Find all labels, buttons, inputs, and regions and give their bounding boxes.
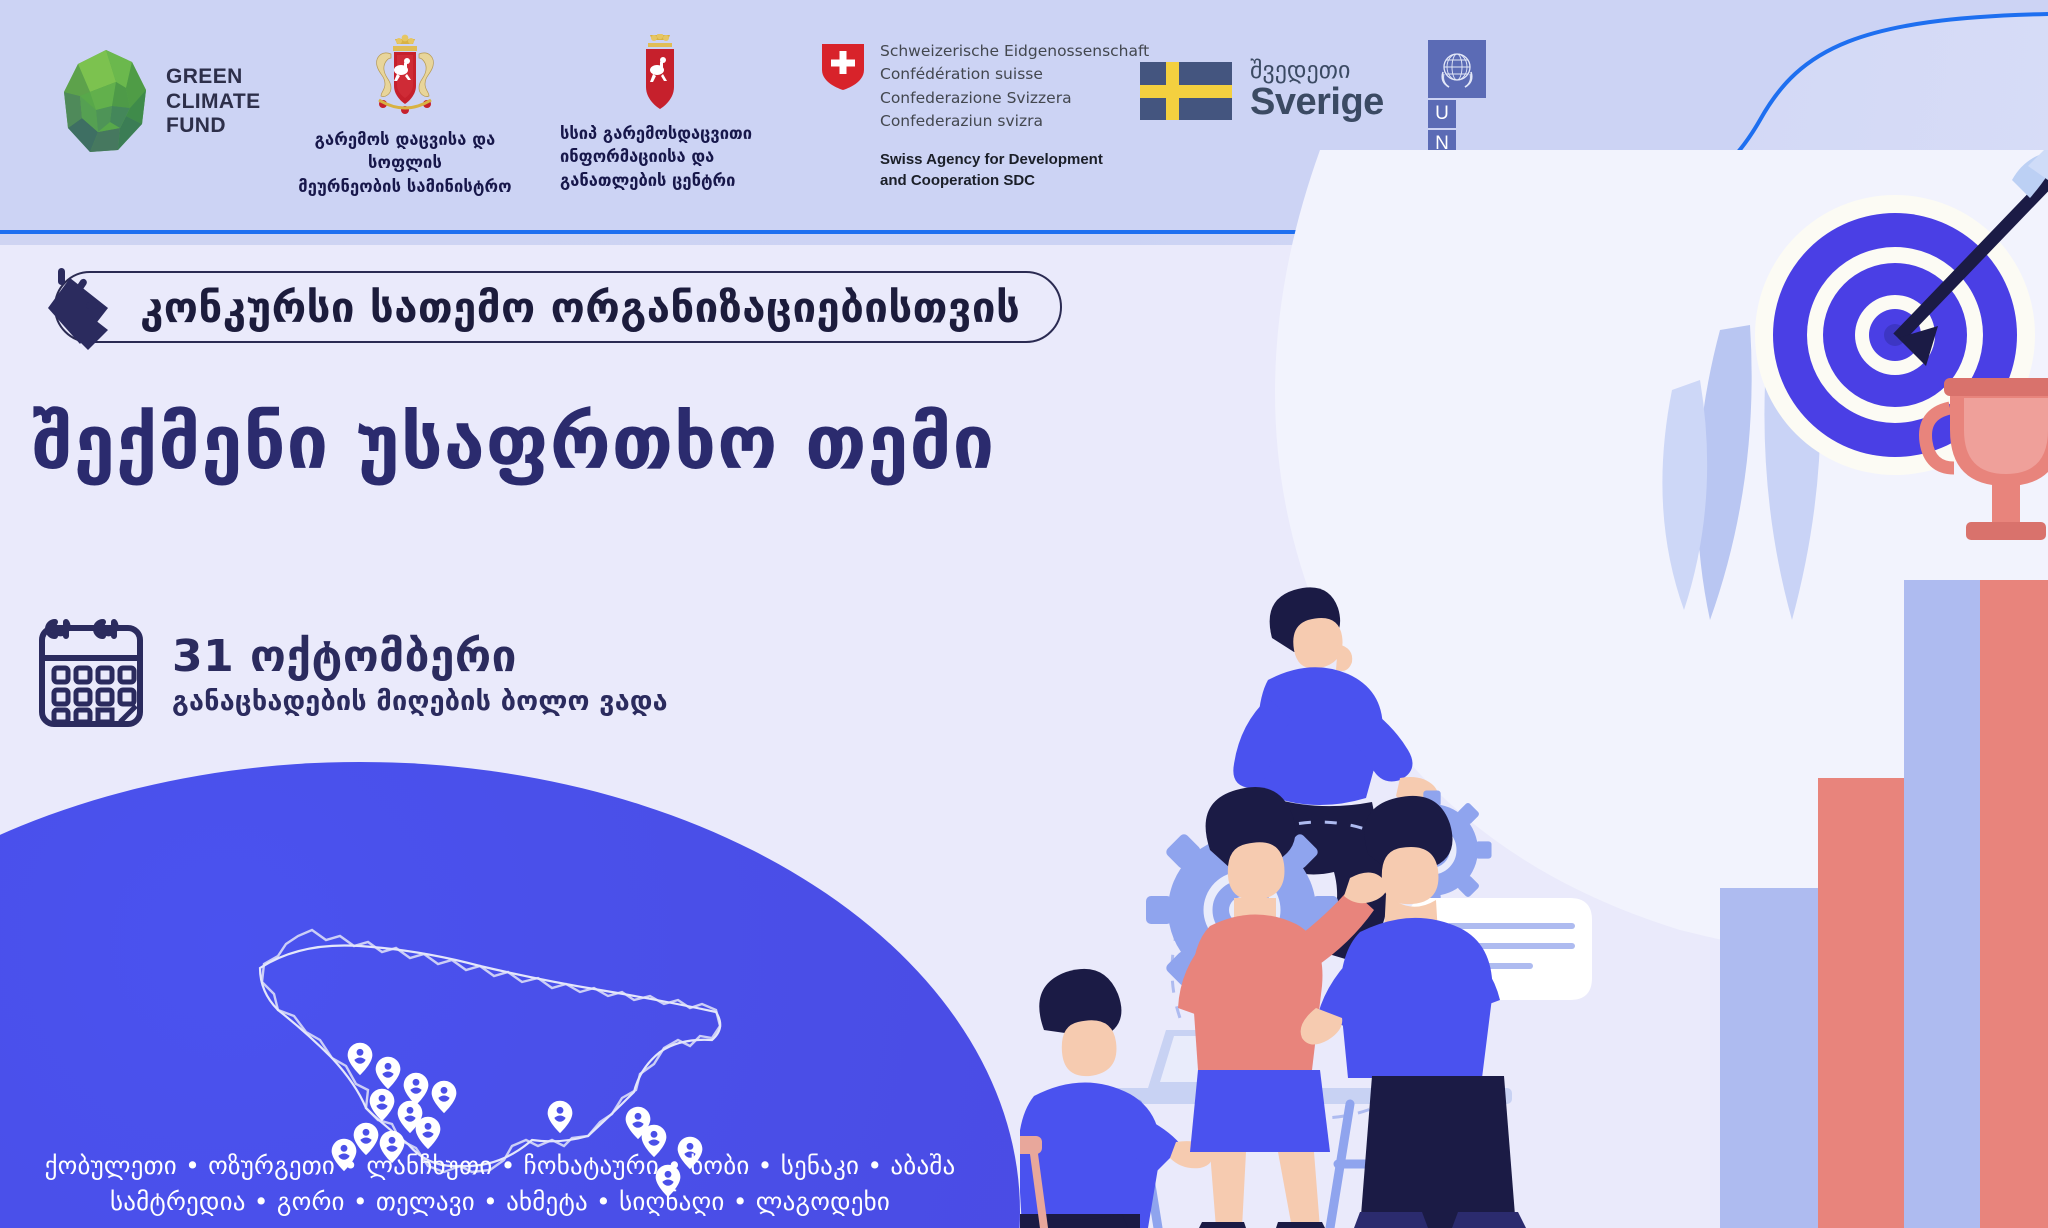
location-pin-icon — [404, 1073, 429, 1105]
gcf-polygon-icon — [60, 48, 152, 156]
logo-sweden: შვედეთი Sverige — [1140, 58, 1384, 124]
page-title: შექმენი უსაფრთხო თემი — [32, 400, 995, 486]
swiss-languages: Schweizerische Eidgenossenschaft Confédé… — [880, 40, 1149, 133]
info-centre-line-2: ინფორმაციისა და — [560, 145, 760, 168]
swiss-lang-it: Confederazione Svizzera — [880, 87, 1149, 110]
info-centre-line-3: განათლების ცენტრი — [560, 169, 760, 192]
deadline-block: 31 ოქტომბერი განაცხადების მიღების ბოლო ვ… — [36, 612, 668, 730]
sweden-label-en: Sverige — [1250, 82, 1384, 124]
gcf-line-3: FUND — [166, 114, 261, 139]
swiss-lang-de: Schweizerische Eidgenossenschaft — [880, 40, 1149, 63]
location-pin-icon — [416, 1117, 441, 1149]
info-centre-line-1: სსიპ გარემოსდაცვითი — [560, 122, 760, 145]
municipality-line-1: ქობულეთი • ოზურგეთი • ლანჩხუთი • ჩოხატაუ… — [40, 1148, 960, 1184]
sweden-label-ka: შვედეთი — [1250, 58, 1384, 82]
sweden-flag-icon — [1140, 62, 1232, 120]
gcf-line-1: GREEN — [166, 65, 261, 90]
swiss-lang-rm: Confederaziun svizra — [880, 110, 1149, 133]
sweden-wordmark: შვედეთი Sverige — [1250, 58, 1384, 124]
swiss-shield-icon — [820, 42, 866, 92]
logo-green-climate-fund: GREEN CLIMATE FUND — [60, 48, 261, 156]
location-pin-icon — [348, 1043, 373, 1075]
logo-environmental-info-centre: სსიპ გარემოსდაცვითი ინფორმაციისა და განა… — [560, 34, 760, 192]
calendar-icon — [36, 612, 146, 730]
location-pin-icon — [376, 1057, 401, 1089]
badge-label: კონკურსი სათემო ორგანიზაციებისთვის — [140, 283, 1020, 332]
teamwork-illustration — [1020, 150, 2048, 1228]
tbilisi-emblem-icon — [637, 34, 683, 116]
location-pin-icon — [548, 1101, 573, 1133]
deadline-note: განაცხადების მიღების ბოლო ვადა — [172, 686, 668, 717]
swiss-lang-fr: Confédération suisse — [880, 63, 1149, 86]
municipality-line-2: სამტრედია • გორი • თელავი • ახმეტა • სიღ… — [40, 1184, 960, 1220]
deadline-date: 31 ოქტომბერი — [172, 634, 668, 680]
badge-pill: კონკურსი სათემო ორგანიზაციებისთვის — [54, 271, 1062, 343]
municipality-list: ქობულეთი • ოზურგეთი • ლანჩხუთი • ჩოხატაუ… — [40, 1148, 960, 1219]
announcement-badge: კონკურსი სათემო ორგანიზაციებისთვის — [30, 270, 1062, 344]
ministry-line-1: გარემოს დაცვისა და სოფლის — [280, 128, 530, 175]
un-emblem-icon — [1428, 40, 1486, 98]
ministry-wordmark: გარემოს დაცვისა და სოფლის მეურნეობის სამ… — [280, 128, 530, 198]
location-pin-icon — [432, 1081, 457, 1113]
gcf-wordmark: GREEN CLIMATE FUND — [166, 65, 261, 139]
ministry-line-2: მეურნეობის სამინისტრო — [280, 175, 530, 198]
info-centre-wordmark: სსიპ გარემოსდაცვითი ინფორმაციისა და განა… — [560, 122, 760, 192]
poster-canvas: GREEN CLIMATE FUND — [0, 0, 2048, 1228]
undp-letter-u: U — [1428, 100, 1456, 128]
megaphone-icon — [30, 264, 126, 350]
georgia-coat-of-arms-icon — [367, 34, 443, 122]
deadline-text: 31 ოქტომბერი განაცხადების მიღების ბოლო ვ… — [172, 634, 668, 717]
logo-ministry-of-environment: გარემოს დაცვისა და სოფლის მეურნეობის სამ… — [280, 34, 530, 198]
gcf-line-2: CLIMATE — [166, 90, 261, 115]
